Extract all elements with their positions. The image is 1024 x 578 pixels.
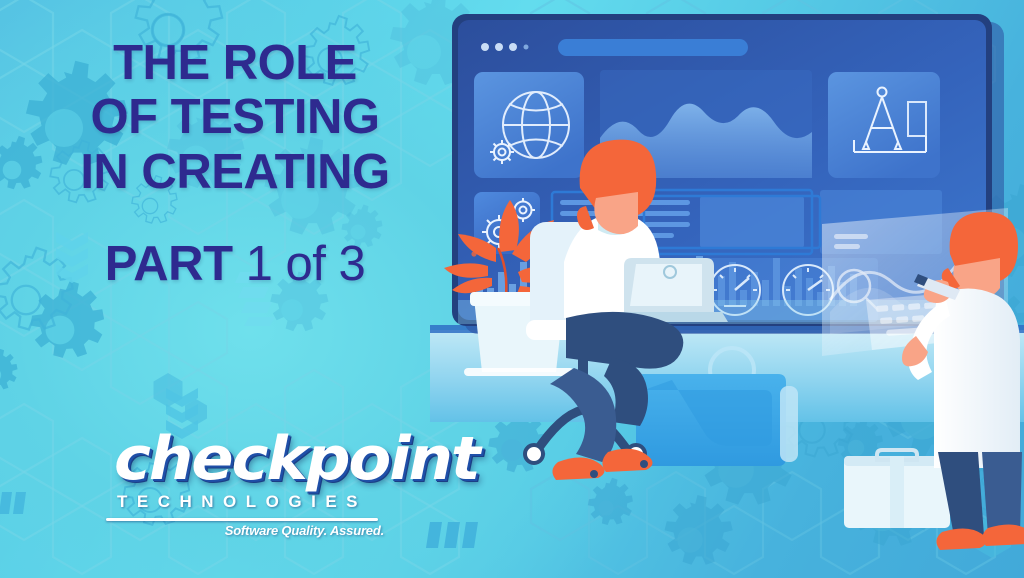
logo-tagline: Software Quality. Assured.: [106, 523, 384, 538]
part-indicator: PART 1 of 3: [0, 239, 470, 289]
blueprint-compass-icon-tile: [828, 72, 940, 178]
browser-dot-4: [524, 45, 529, 50]
part-number: 1 of 3: [246, 237, 366, 291]
laptop: [608, 258, 728, 322]
desk-monitor-base: [636, 374, 798, 466]
slant-bars-left-edge: [0, 492, 26, 514]
browser-address-bar: [558, 39, 748, 56]
illustration-scene: [430, 0, 1024, 578]
logo-wordmark: checkpoint: [114, 424, 479, 494]
headline-line-3: IN CREATING: [0, 147, 470, 197]
browser-dot-3: [509, 43, 517, 51]
headline-block: THE ROLE OF TESTING IN CREATING PART 1 o…: [0, 38, 470, 290]
part-label: PART: [105, 237, 233, 291]
headline-line-2: OF TESTING: [0, 92, 470, 142]
globe-gear-icon-tile: [474, 72, 584, 178]
headline-line-1: THE ROLE: [0, 38, 470, 88]
banner-canvas: THE ROLE OF TESTING IN CREATING PART 1 o…: [0, 0, 1024, 578]
browser-dot-1: [481, 43, 489, 51]
logo-divider-rule: [106, 518, 378, 521]
browser-dot-2: [495, 43, 503, 51]
logo-subtitle: TECHNOLOGIES: [108, 492, 376, 512]
checkpoint-logo: checkpoint TECHNOLOGIES Software Quality…: [96, 424, 396, 544]
